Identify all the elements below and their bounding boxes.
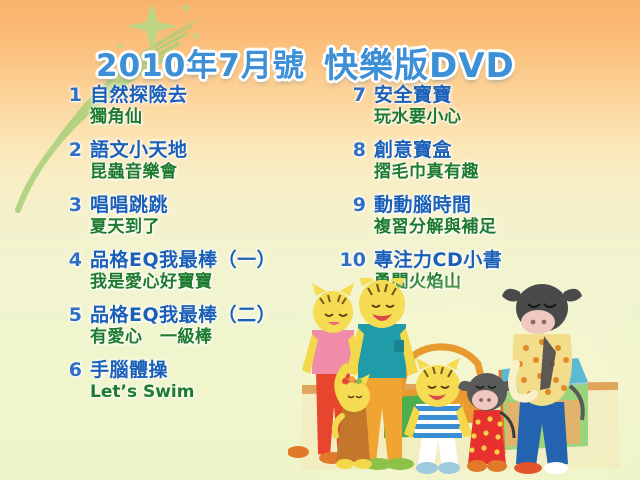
item-subtitle: 夏天到了 — [90, 217, 337, 237]
list-item[interactable]: 1 自然探險去 獨角仙 — [52, 84, 337, 127]
contents-right-column: 7 安全寶寶 玩水要小心 8 創意寶盒 摺毛巾真有趣 9 動動腦時間 複習分解與… — [336, 84, 621, 304]
item-number: 7 — [336, 84, 374, 106]
item-subtitle: 複習分解與補足 — [374, 217, 621, 237]
edition-title: 快樂版DVD — [324, 38, 515, 87]
dvd-menu-screen: 2010年7月號 快樂版DVD 1 自然探險去 獨角仙 2 語文小天地 昆蟲音樂… — [0, 0, 640, 480]
item-number: 4 — [52, 249, 90, 271]
item-number: 10 — [336, 249, 374, 271]
item-title: 自然探險去 — [90, 84, 188, 106]
illustration-tiger-family — [288, 278, 640, 480]
item-subtitle: 玩水要小心 — [374, 107, 621, 127]
item-number: 5 — [52, 304, 90, 326]
item-number: 3 — [52, 194, 90, 216]
item-subtitle: 獨角仙 — [90, 107, 337, 127]
item-number: 2 — [52, 139, 90, 161]
list-item[interactable]: 2 語文小天地 昆蟲音樂會 — [52, 139, 337, 182]
item-number: 6 — [52, 359, 90, 381]
list-item[interactable]: 9 動動腦時間 複習分解與補足 — [336, 194, 621, 237]
item-title: 唱唱跳跳 — [90, 194, 168, 216]
item-title: 品格EQ我最棒（一） — [90, 249, 276, 271]
list-item[interactable]: 3 唱唱跳跳 夏天到了 — [52, 194, 337, 237]
issue-title: 2010年7月號 — [96, 40, 305, 85]
item-title: 手腦體操 — [90, 359, 168, 381]
item-title: 創意寶盒 — [374, 139, 452, 161]
item-number: 1 — [52, 84, 90, 106]
item-title: 動動腦時間 — [374, 194, 472, 216]
list-item[interactable]: 8 創意寶盒 摺毛巾真有趣 — [336, 139, 621, 182]
item-title: 專注力CD小書 — [374, 249, 502, 271]
item-subtitle: 昆蟲音樂會 — [90, 162, 337, 182]
item-title: 語文小天地 — [90, 139, 188, 161]
item-title: 品格EQ我最棒（二） — [90, 304, 276, 326]
item-subtitle: 摺毛巾真有趣 — [374, 162, 621, 182]
item-title: 安全寶寶 — [374, 84, 452, 106]
list-item[interactable]: 7 安全寶寶 玩水要小心 — [336, 84, 621, 127]
character-toddler-tiger — [335, 374, 372, 469]
item-number: 9 — [336, 194, 374, 216]
item-number: 8 — [336, 139, 374, 161]
